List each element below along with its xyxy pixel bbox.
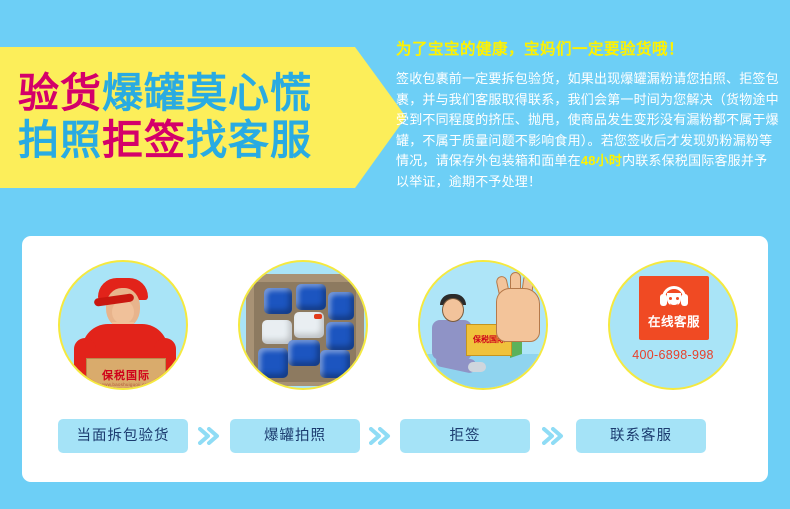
illustration-courier: 保税国际 www.baoshuiguoji.com	[58, 260, 188, 390]
formula-can	[326, 322, 354, 350]
steps-row: 当面拆包验货 爆罐拍照 拒签 联系客服	[22, 414, 768, 458]
headline-emphasis-2: 拒签	[102, 117, 186, 163]
formula-can	[320, 350, 350, 378]
step-pill-2[interactable]: 爆罐拍照	[230, 419, 360, 453]
online-service-label: 在线客服	[648, 311, 700, 330]
step-pill-1[interactable]: 当面拆包验货	[58, 419, 188, 453]
notice-title: 为了宝宝的健康，宝妈们一定要验货哦！	[396, 40, 780, 60]
chevron-right-icon	[188, 427, 230, 445]
man-head	[442, 298, 464, 322]
formula-can-lid	[262, 320, 292, 344]
courier-box-url: www.baoshuiguoji.com	[87, 382, 165, 387]
chevron-right-icon	[360, 427, 400, 445]
formula-can	[328, 292, 354, 320]
headline-line-1: 验货爆罐莫心慌	[18, 73, 368, 115]
step-pill-4[interactable]: 联系客服	[576, 419, 706, 453]
formula-can	[296, 284, 326, 310]
formula-can	[264, 288, 292, 314]
courier-box-brand: 保税国际	[87, 367, 165, 383]
illustration-damaged-cans	[238, 260, 368, 390]
headline-emphasis-1: 验货	[18, 70, 102, 116]
headline-post-2: 找客服	[186, 117, 312, 163]
courier-parcel-box: 保税国际 www.baoshuiguoji.com	[86, 358, 166, 390]
headset-icon	[660, 286, 688, 308]
man-shoe	[468, 362, 486, 372]
online-service-button[interactable]: 在线客服	[639, 276, 709, 340]
formula-can	[258, 348, 288, 378]
formula-can	[288, 340, 320, 366]
headline-pre-2: 拍照	[18, 117, 102, 163]
chevron-right-icon	[530, 427, 576, 445]
headline-line-2: 拍照拒签找客服	[18, 120, 368, 162]
stop-hand-palm	[496, 288, 540, 342]
notice-paragraph: 签收包裹前一定要拆包验货，如果出现爆罐漏粉请您拍照、拒签包裹，并与我们客服取得联…	[396, 69, 780, 192]
step-pill-3[interactable]: 拒签	[400, 419, 530, 453]
promo-banner-page: 验货爆罐莫心慌 拍照拒签找客服 为了宝宝的健康，宝妈们一定要验货哦！ 签收包裹前…	[0, 0, 790, 509]
headline-rest-1: 爆罐莫心慌	[102, 70, 312, 116]
illustration-refuse-delivery: 保税国际	[418, 260, 548, 390]
illustration-row: 保税国际 www.baoshuiguoji.com	[22, 248, 768, 408]
service-phone-number: 400-6898-998	[610, 348, 736, 362]
notice-highlight-48h: 48小时	[581, 153, 622, 168]
illustration-online-service: 在线客服 400-6898-998	[608, 260, 738, 390]
headline-block: 验货爆罐莫心慌 拍照拒签找客服	[18, 52, 368, 182]
notice-block: 为了宝宝的健康，宝妈们一定要验货哦！ 签收包裹前一定要拆包验货，如果出现爆罐漏粉…	[396, 40, 780, 192]
can-scoop	[314, 314, 322, 319]
